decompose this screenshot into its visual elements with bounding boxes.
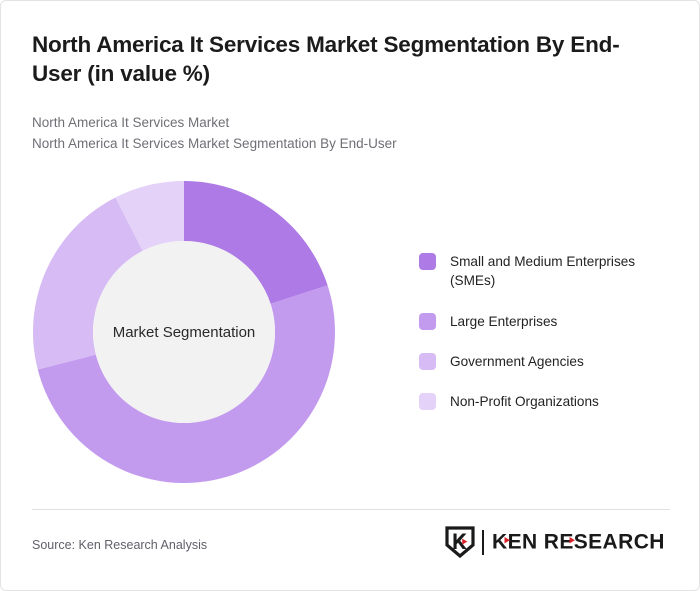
legend-swatch-non-profit-organizations <box>419 393 436 410</box>
page-title: North America It Services Market Segment… <box>32 31 646 89</box>
legend-label-non-profit-organizations: Non-Profit Organizations <box>450 392 599 411</box>
legend-swatch-smes <box>419 253 436 270</box>
legend-swatch-large-enterprises <box>419 313 436 330</box>
donut-svg <box>33 181 335 483</box>
ken-research-logo: KEN RESEARCH <box>445 525 668 559</box>
legend-swatch-government-agencies <box>419 353 436 370</box>
legend-label-smes: Small and Medium Enterprises (SMEs) <box>450 252 677 291</box>
legend-item-large-enterprises[interactable]: Large Enterprises <box>419 312 677 331</box>
subtitle-line-1: North America It Services Market <box>32 113 632 134</box>
donut-chart: Market Segmentation <box>33 181 335 483</box>
donut-center-circle <box>93 241 275 423</box>
legend-item-smes[interactable]: Small and Medium Enterprises (SMEs) <box>419 252 677 291</box>
chart-legend: Small and Medium Enterprises (SMEs) Larg… <box>419 252 677 411</box>
source-note: Source: Ken Research Analysis <box>32 538 207 552</box>
legend-item-non-profit-organizations[interactable]: Non-Profit Organizations <box>419 392 677 411</box>
legend-label-large-enterprises: Large Enterprises <box>450 312 557 331</box>
logo-separator <box>482 530 484 555</box>
subtitle-line-2: North America It Services Market Segment… <box>32 134 632 155</box>
ken-shield-icon <box>445 526 475 558</box>
footer-divider <box>32 509 670 510</box>
legend-item-government-agencies[interactable]: Government Agencies <box>419 352 677 371</box>
legend-label-government-agencies: Government Agencies <box>450 352 584 371</box>
subtitle-block: North America It Services Market North A… <box>32 113 632 154</box>
svg-text:KEN RESEARCH: KEN RESEARCH <box>492 531 665 554</box>
ken-research-wordmark: KEN RESEARCH <box>492 529 668 555</box>
chart-card: North America It Services Market Segment… <box>0 0 700 591</box>
